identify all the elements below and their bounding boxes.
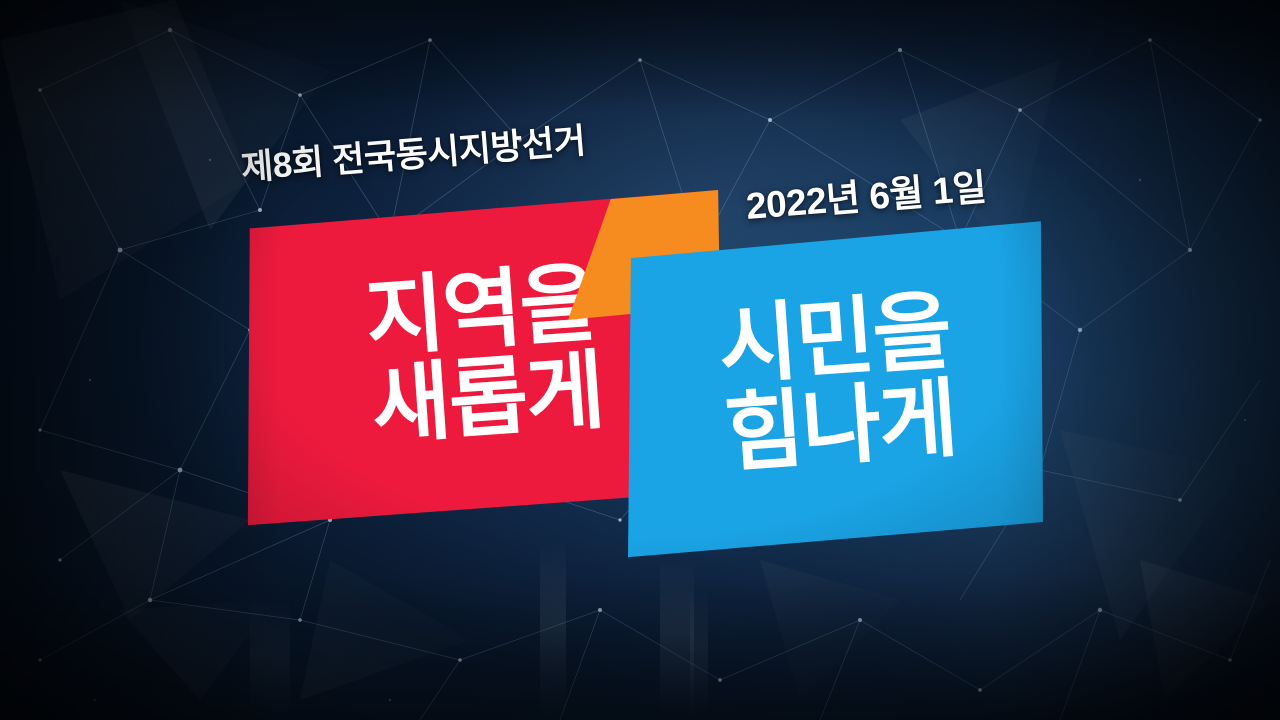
red-slab-line-2: 새롭게	[369, 348, 606, 452]
blue-slogan-slab: 시민을 힘나게	[628, 215, 1043, 560]
poster-stage: 제8회 전국동시지방선거 2022년 6월 1일 지역을 새롭게 시민을 힘나게	[0, 0, 1280, 720]
blue-slab-text: 시민을 힘나게	[716, 288, 959, 479]
red-slab-text: 지역을 새롭게	[363, 260, 606, 451]
blue-slab-line-2: 힘나게	[722, 375, 959, 479]
